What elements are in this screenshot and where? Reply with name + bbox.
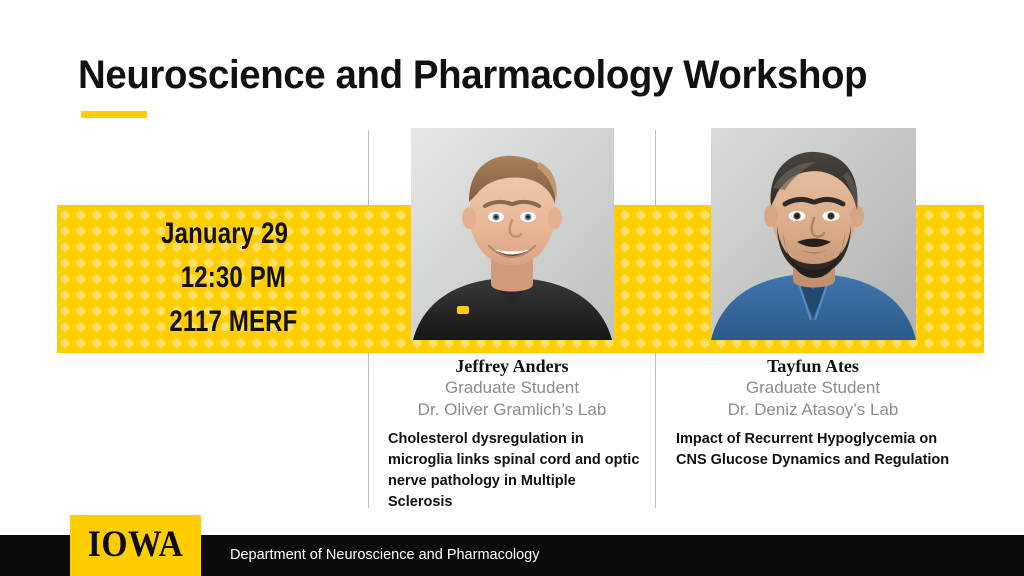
event-time: 12:30 PM: [98, 256, 324, 300]
event-location: 2117 MERF: [98, 300, 324, 344]
event-details-block: January 29 12:30 PM 2117 MERF: [70, 212, 352, 344]
speaker-talk-title: Impact of Recurrent Hypoglycemia on CNS …: [668, 429, 958, 471]
speaker-photo-2: [711, 128, 916, 340]
speaker-photo-1: [411, 128, 614, 340]
speaker-talk-title: Cholesterol dysregulation in microglia l…: [383, 429, 641, 513]
page-title: Neuroscience and Pharmacology Workshop: [78, 50, 923, 100]
iowa-logo: IOWA: [70, 515, 201, 576]
workshop-flyer-slide: Neuroscience and Pharmacology Workshop J…: [0, 0, 1024, 576]
speaker-card-2: Tayfun Ates Graduate Student Dr. Deniz A…: [668, 128, 958, 471]
speaker-lab: Dr. Oliver Gramlich’s Lab: [383, 399, 641, 421]
speaker-card-1: Jeffrey Anders Graduate Student Dr. Oliv…: [383, 128, 641, 513]
department-label: Department of Neuroscience and Pharmacol…: [230, 546, 540, 565]
speaker-name: Jeffrey Anders: [383, 356, 641, 377]
speaker-lab: Dr. Deniz Atasoy’s Lab: [668, 399, 958, 421]
event-date: January 29: [98, 212, 324, 256]
speaker-name: Tayfun Ates: [668, 356, 958, 377]
speaker-role: Graduate Student: [383, 377, 641, 399]
speaker-role: Graduate Student: [668, 377, 958, 399]
iowa-logo-text: IOWA: [69, 511, 203, 576]
title-accent-rule: [81, 111, 147, 118]
